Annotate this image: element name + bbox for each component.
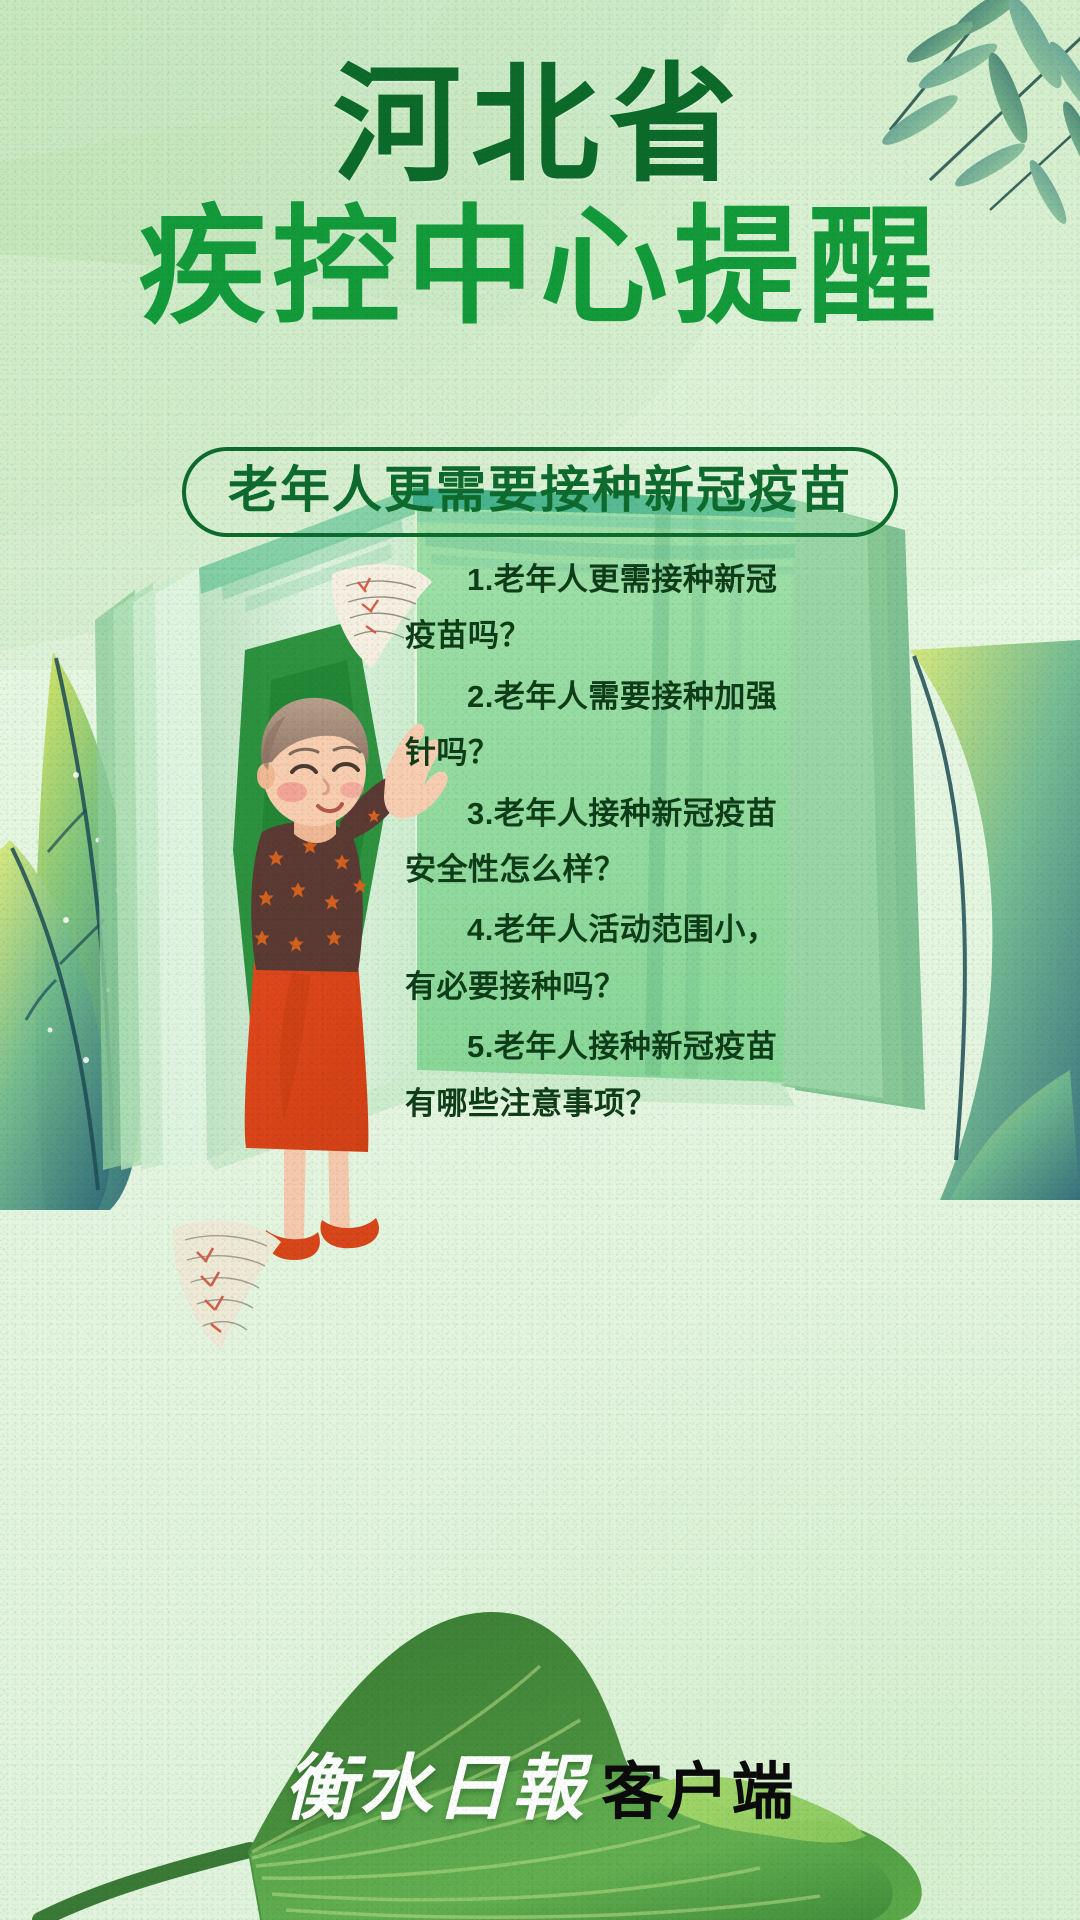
brand-suffix: 客户端 (602, 1741, 797, 1831)
question-item-5: 5.老年人接种新冠疫苗有哪些注意事项？ (405, 1019, 785, 1132)
title-block: 河北省 疾控中心提醒 (0, 58, 1080, 340)
subtitle-pill: 老年人更需要接种新冠疫苗 (182, 447, 898, 537)
page-title-line-2: 疾控中心提醒 (0, 196, 1080, 339)
question-item-2: 2.老年人需要接种加强针吗？ (405, 669, 785, 782)
page-title-line-1: 河北省 (0, 58, 1080, 192)
question-item-3: 3.老年人接种新冠疫苗安全性怎么样？ (405, 786, 785, 899)
brand-name: 衡水日報 (283, 1729, 587, 1834)
question-list: 1.老年人更需接种新冠疫苗吗？ 2.老年人需要接种加强针吗？ 3.老年人接种新冠… (405, 552, 785, 1136)
subtitle-pill-wrap: 老年人更需要接种新冠疫苗 (0, 447, 1080, 537)
question-item-1: 1.老年人更需接种新冠疫苗吗？ (405, 552, 785, 665)
large-leaf-right-icon (900, 640, 1080, 1200)
question-item-4: 4.老年人活动范围小，有必要接种吗？ (405, 902, 785, 1015)
poster-root: 河北省 疾控中心提醒 老年人更需要接种新冠疫苗 (0, 0, 1080, 1920)
flying-paper-sheet-2-icon (163, 1212, 293, 1352)
footer-brand: 衡水日報 客户端 (0, 1729, 1080, 1834)
